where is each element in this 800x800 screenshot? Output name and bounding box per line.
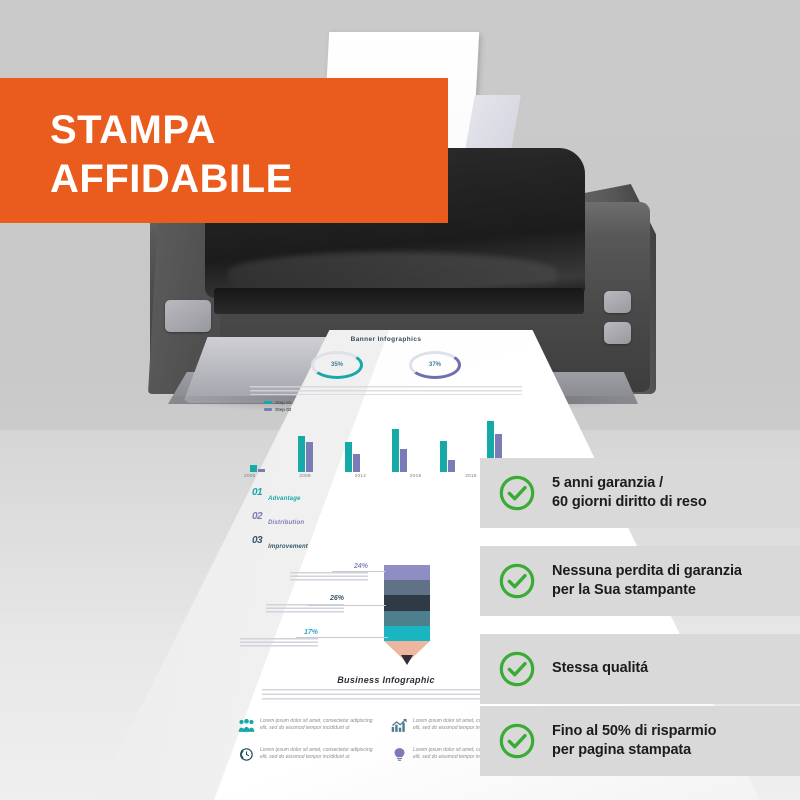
bar-step-01-2006 bbox=[250, 465, 257, 472]
legend-swatch-icon-2 bbox=[264, 408, 272, 411]
bar-step-02-2012 bbox=[353, 454, 360, 472]
feature-box-4[interactable]: Fino al 50% di risparmio per pagina stam… bbox=[480, 706, 800, 776]
printer-button-right-1[interactable] bbox=[604, 291, 631, 313]
bar-group-2015 bbox=[392, 429, 407, 472]
check-circle-icon bbox=[498, 650, 536, 688]
list-number-02: 02 bbox=[252, 511, 262, 522]
pencil-stat-lines-3 bbox=[240, 638, 318, 648]
legend-label-1: Step 01 bbox=[275, 400, 291, 405]
check-circle-icon bbox=[498, 562, 536, 600]
feature-text-2: Nessuna perdita di garanzia per la Sua s… bbox=[552, 562, 742, 600]
x-axis-label-2015: 2015 bbox=[410, 474, 421, 479]
leader-line-1 bbox=[332, 571, 386, 572]
bar-step-02-2009 bbox=[306, 442, 313, 472]
icon-feature-text-3: Lorem ipsum dolor sit amet, consectetur … bbox=[260, 747, 381, 762]
icon-feature-clock: Lorem ipsum dolor sit amet, consectetur … bbox=[238, 747, 381, 762]
donut-chart-row: 35% 37% bbox=[236, 351, 536, 379]
leader-line-3 bbox=[296, 637, 388, 638]
feature-text-1: 5 anni garanzia / 60 giorni diritto di r… bbox=[552, 474, 707, 512]
pencil-stat-value-3: 17% bbox=[240, 629, 318, 636]
bar-step-01-2012 bbox=[345, 442, 352, 472]
printer-button-right-2[interactable] bbox=[604, 322, 631, 344]
list-heading-03: Improvement bbox=[268, 544, 308, 550]
bar-step-02-2015 bbox=[400, 449, 407, 472]
bar-step-02-2006 bbox=[258, 469, 265, 472]
page-title: STAMPA AFFIDABILE bbox=[50, 106, 293, 204]
list-heading-01: Advantage bbox=[268, 496, 300, 502]
icon-feature-text-1: Lorem ipsum dolor sit amet, consectetur … bbox=[260, 718, 381, 733]
bar-group-2018 bbox=[440, 441, 455, 472]
feature-box-3[interactable]: Stessa qualitá bbox=[480, 634, 800, 704]
legend-item-step-02: Step 02 bbox=[264, 407, 536, 412]
x-axis-label-2006: 2006 bbox=[244, 474, 255, 479]
chart-legend: Step 01 Step 02 bbox=[264, 400, 536, 412]
x-axis-label-2018: 2018 bbox=[465, 474, 476, 479]
donut-chart-1: 35% bbox=[311, 351, 363, 379]
list-number-03: 03 bbox=[252, 535, 262, 546]
pencil-segment-3 bbox=[384, 595, 430, 610]
x-axis-label-2009: 2009 bbox=[299, 474, 310, 479]
donut-value-1: 35% bbox=[311, 351, 363, 379]
leader-line-2 bbox=[308, 605, 386, 606]
feature-text-4: Fino al 50% di risparmio per pagina stam… bbox=[552, 722, 716, 760]
pencil-lead bbox=[401, 655, 413, 665]
pencil-stat-3: 17% bbox=[240, 629, 318, 648]
printer-button-left[interactable] bbox=[165, 300, 211, 332]
feature-text-3: Stessa qualitá bbox=[552, 659, 648, 678]
bar-group-2006 bbox=[250, 465, 265, 472]
printer-output-slot bbox=[214, 288, 584, 314]
pencil-segment-5 bbox=[384, 626, 430, 641]
donut-chart-2: 37% bbox=[409, 351, 461, 379]
lightbulb-icon bbox=[391, 747, 408, 762]
pencil-stat-value-1: 24% bbox=[290, 563, 368, 570]
bar-group-2009 bbox=[298, 436, 313, 472]
people-icon bbox=[238, 718, 255, 733]
icon-feature-people: Lorem ipsum dolor sit amet, consectetur … bbox=[238, 718, 381, 733]
bar-step-01-2015 bbox=[392, 429, 399, 472]
donut-value-2: 37% bbox=[409, 351, 461, 379]
bar-step-02-2018 bbox=[448, 460, 455, 472]
legend-swatch-icon-1 bbox=[264, 401, 272, 404]
infographic-title: Banner Infographics bbox=[236, 336, 536, 343]
infographic-paragraph-1 bbox=[250, 386, 522, 395]
pencil-segment-2 bbox=[384, 580, 430, 595]
pencil-segment-1 bbox=[384, 565, 430, 580]
pencil-segment-4 bbox=[384, 611, 430, 626]
pencil-stat-1: 24% bbox=[290, 563, 368, 582]
printer-lid-highlight bbox=[228, 252, 558, 292]
feature-box-1[interactable]: 5 anni garanzia / 60 giorni diritto di r… bbox=[480, 458, 800, 528]
check-circle-icon bbox=[498, 474, 536, 512]
pencil-body bbox=[384, 565, 430, 641]
business-infographic-paragraph bbox=[262, 689, 510, 702]
legend-label-2: Step 02 bbox=[275, 407, 291, 412]
x-axis-label-2012: 2012 bbox=[355, 474, 366, 479]
bar-group-2012 bbox=[345, 442, 360, 472]
bar-step-01-2018 bbox=[440, 441, 447, 472]
pencil-stat-value-2: 26% bbox=[266, 595, 344, 602]
bar-step-01-2009 bbox=[298, 436, 305, 472]
list-heading-02: Distribution bbox=[268, 520, 304, 526]
pencil-stat-lines-1 bbox=[290, 572, 368, 582]
headline-banner: STAMPA AFFIDABILE bbox=[0, 78, 448, 223]
growth-chart-icon bbox=[391, 718, 408, 733]
check-circle-icon bbox=[498, 722, 536, 760]
list-number-01: 01 bbox=[252, 487, 262, 498]
feature-box-2[interactable]: Nessuna perdita di garanzia per la Sua s… bbox=[480, 546, 800, 616]
clock-phone-icon bbox=[238, 747, 255, 762]
legend-item-step-01: Step 01 bbox=[264, 400, 536, 405]
